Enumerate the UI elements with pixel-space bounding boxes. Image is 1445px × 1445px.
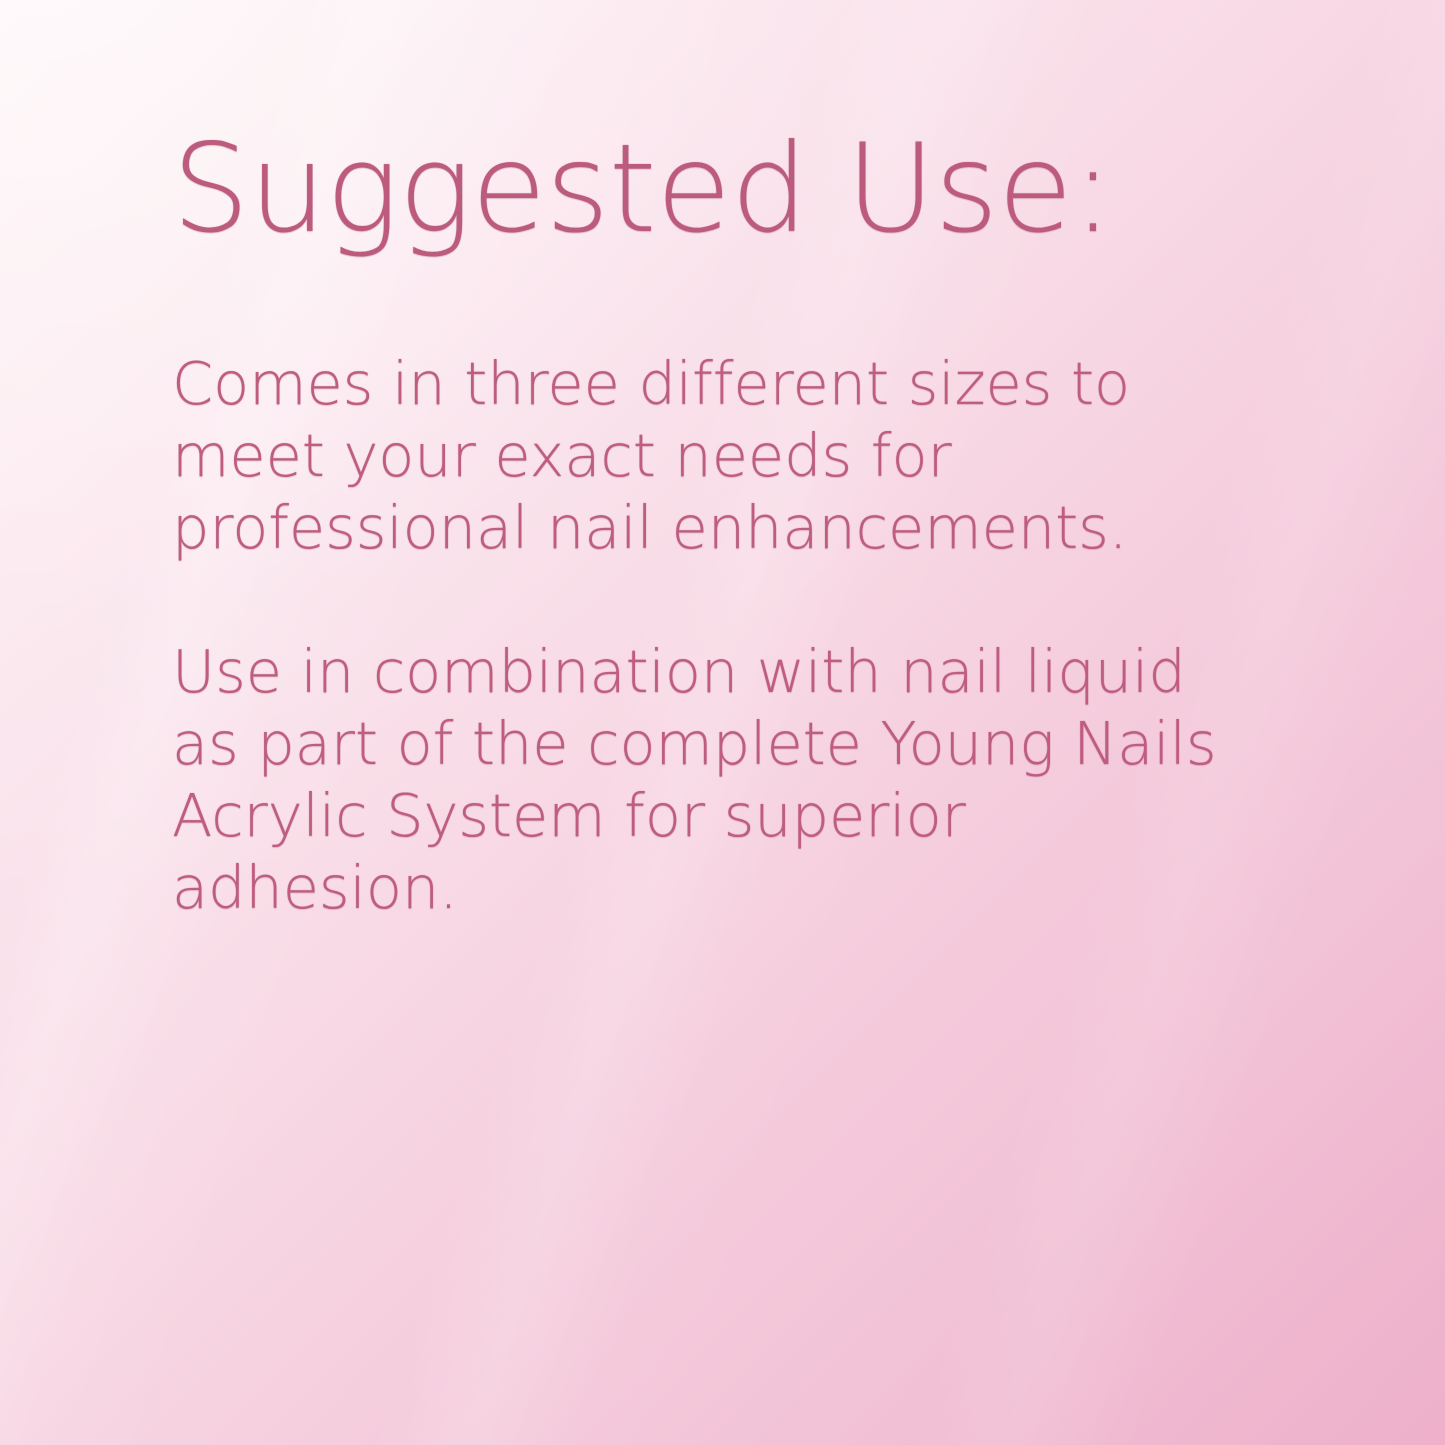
paragraph-system: Use in combination with nail liquid as p… (172, 636, 1232, 924)
page-title: Suggested Use: (172, 128, 1113, 250)
paragraph-sizes: Comes in three different sizes to meet y… (172, 348, 1232, 564)
body-text-block: Comes in three different sizes to meet y… (172, 348, 1232, 924)
suggested-use-panel: Suggested Use: Comes in three different … (0, 0, 1445, 1445)
